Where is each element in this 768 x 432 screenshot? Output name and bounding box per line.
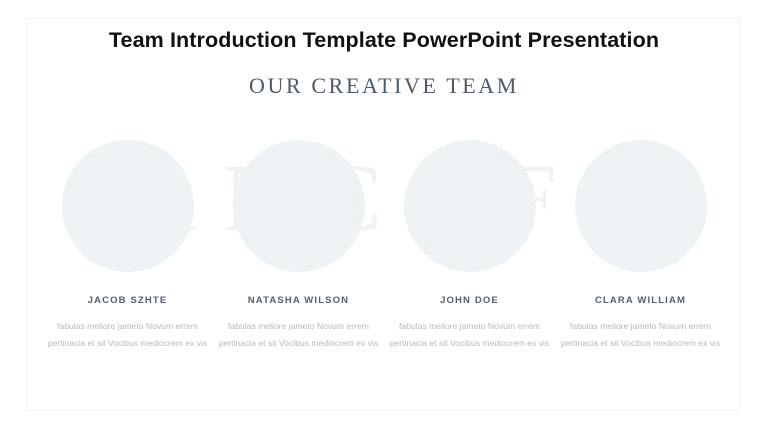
member-description: fabulas meliore jameto Novum errem perti…: [44, 318, 212, 351]
team-member-row: JACOB SZHTE fabulas meliore jameto Novum…: [42, 140, 726, 351]
slide-root: Team Introduction Template PowerPoint Pr…: [0, 0, 768, 432]
section-heading: OUR CREATIVE TEAM: [0, 73, 768, 99]
member-description: fabulas meliore jameto Novum errem perti…: [215, 318, 383, 351]
member-description: fabulas meliore jameto Novum errem perti…: [557, 318, 725, 351]
avatar: [62, 140, 194, 272]
member-name: JACOB SZHTE: [88, 295, 168, 306]
avatar: [404, 140, 536, 272]
avatar: [233, 140, 365, 272]
member-name: JOHN DOE: [440, 295, 499, 306]
member-description: fabulas meliore jameto Novum errem perti…: [386, 318, 554, 351]
team-member-card: JACOB SZHTE fabulas meliore jameto Novum…: [42, 140, 213, 351]
team-member-card: JOHN DOE fabulas meliore jameto Novum er…: [384, 140, 555, 351]
team-member-card: CLARA WILLIAM fabulas meliore jameto Nov…: [555, 140, 726, 351]
team-member-card: NATASHA WILSON fabulas meliore jameto No…: [213, 140, 384, 351]
member-name: NATASHA WILSON: [248, 295, 349, 306]
avatar: [575, 140, 707, 272]
page-title: Team Introduction Template PowerPoint Pr…: [0, 28, 768, 53]
member-name: CLARA WILLIAM: [595, 295, 686, 306]
